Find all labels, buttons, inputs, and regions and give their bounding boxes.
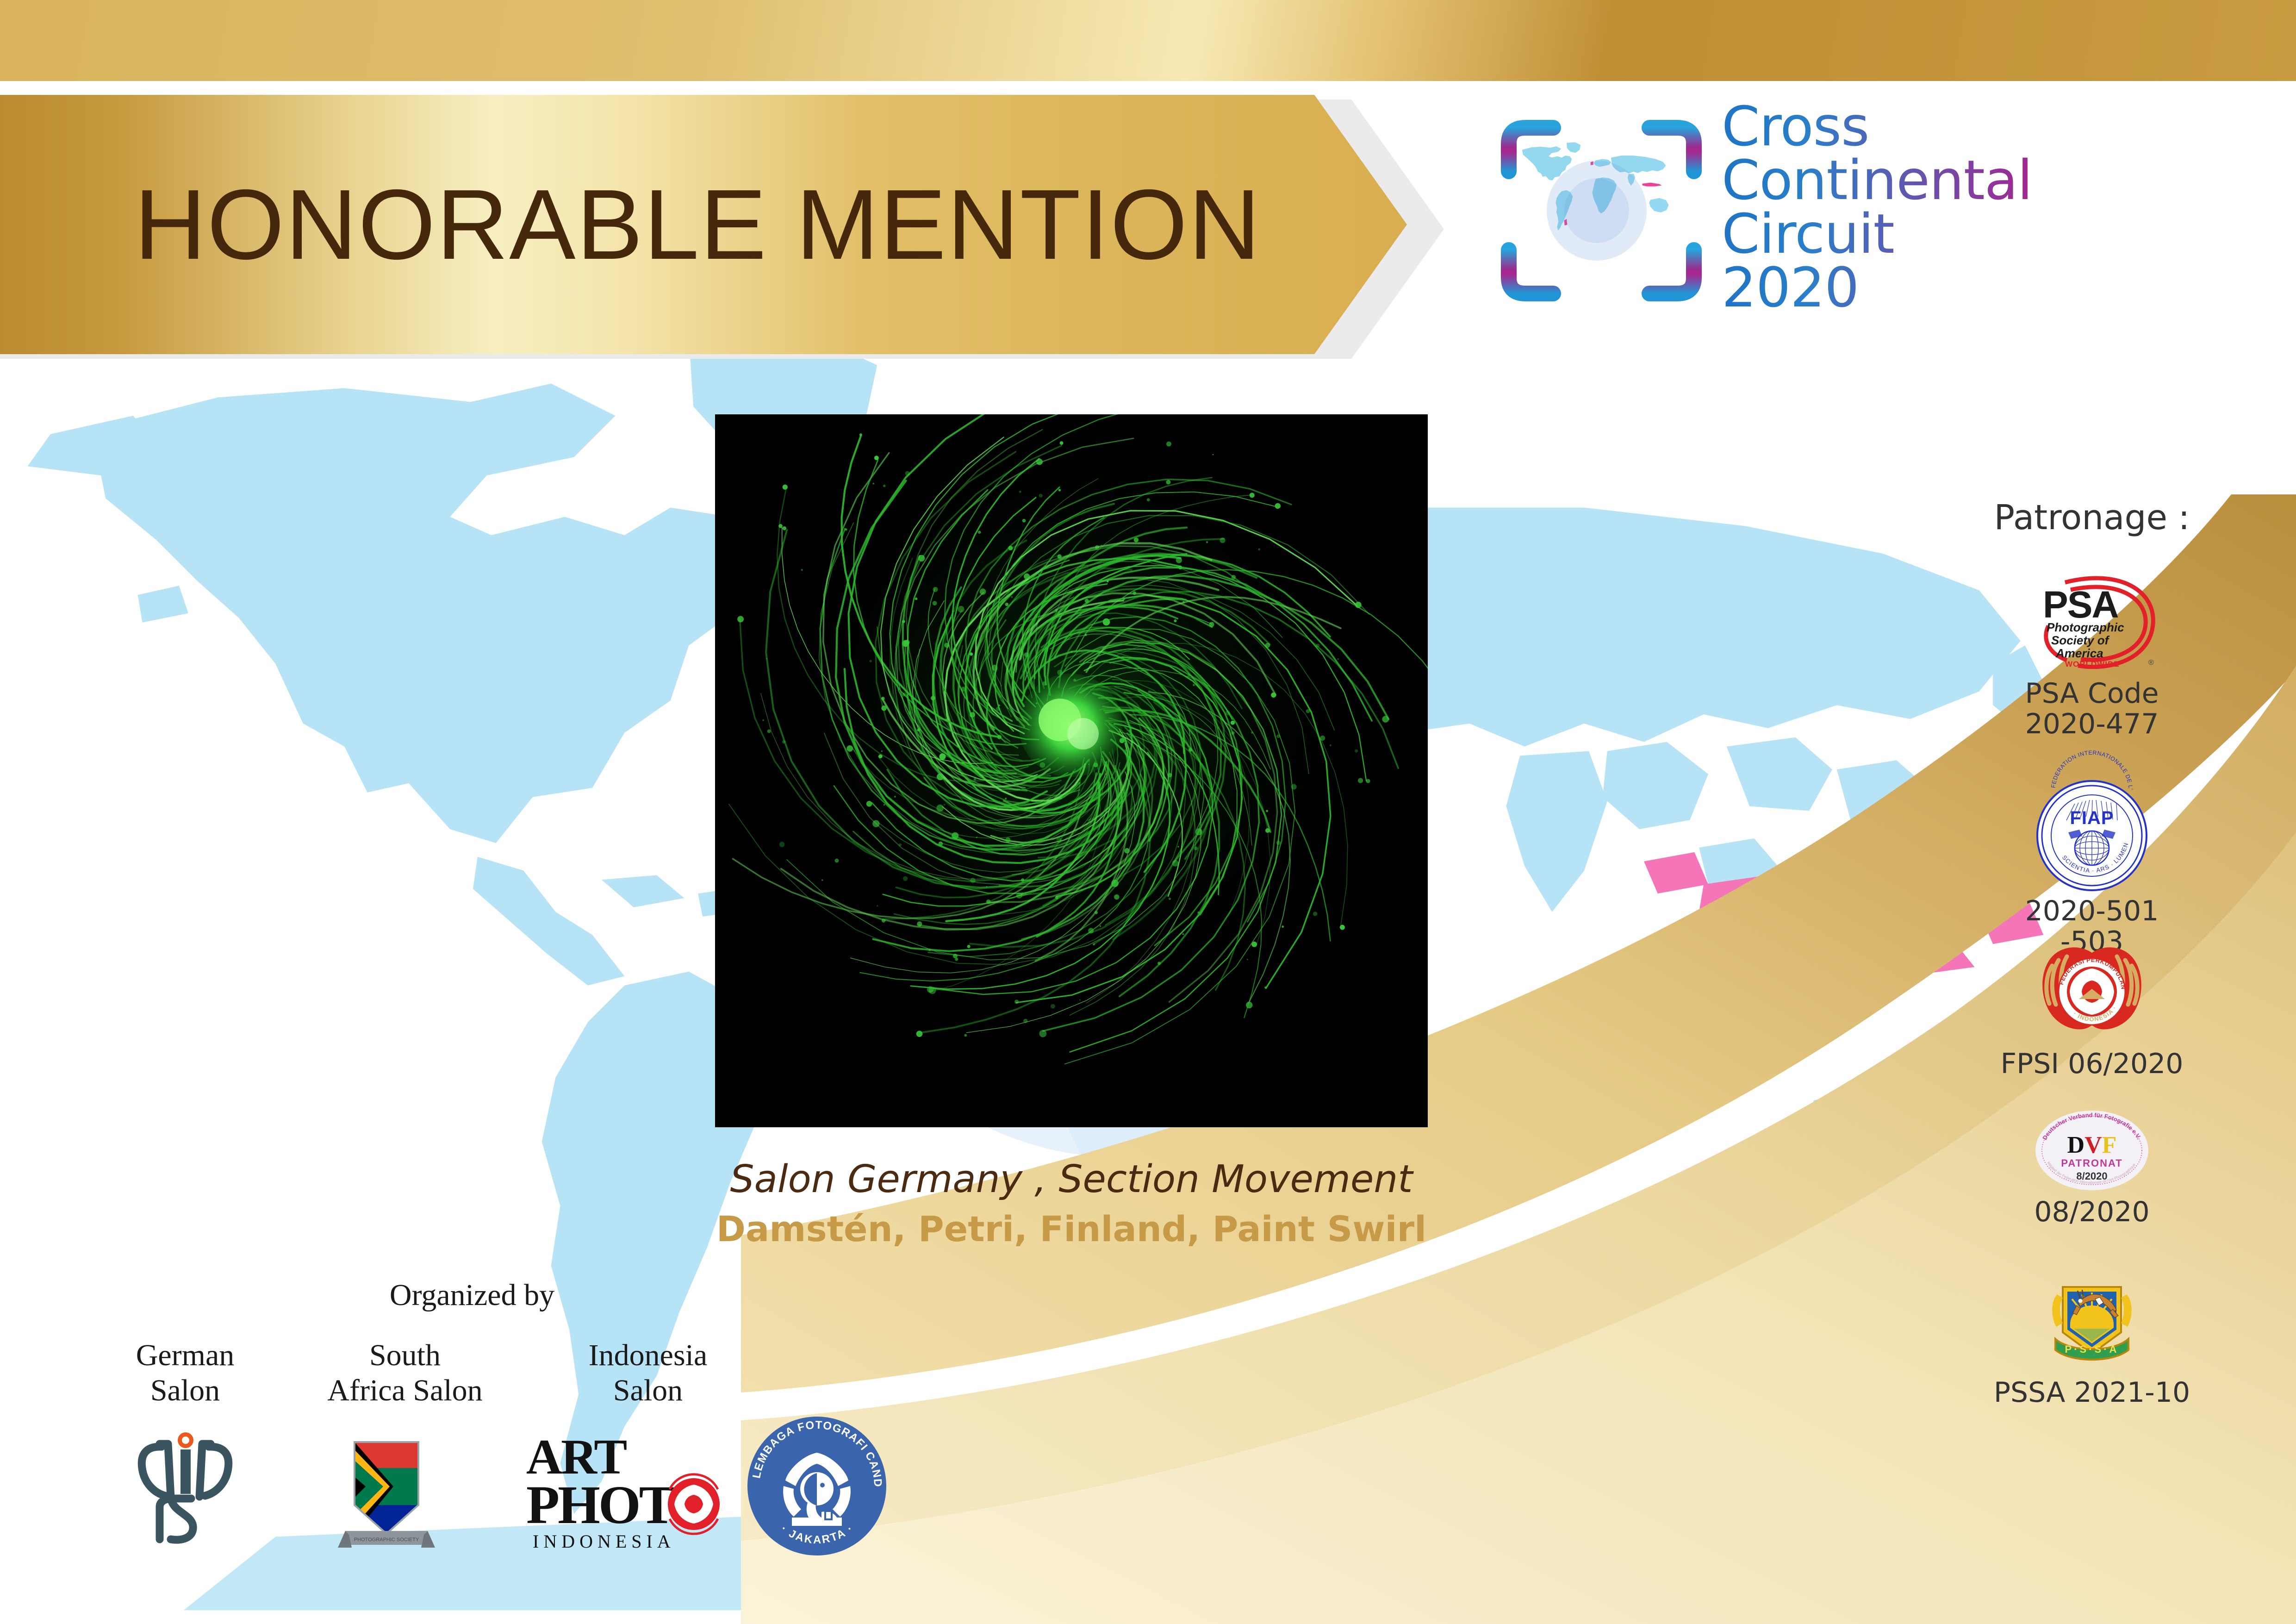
fiap-logo-icon: FEDERATION INTERNATIONALE DE L'ART PHOTO… (2034, 778, 2150, 893)
fpsi-code: FPSI 06/2020 (1944, 1049, 2240, 1079)
svg-text:®: ® (2148, 659, 2154, 667)
psa-code: PSA Code 2020-477 (1944, 678, 2240, 739)
svg-text:PSA: PSA (2043, 584, 2118, 626)
svg-text:PATRONAT: PATRONAT (2061, 1157, 2122, 1169)
author-title-caption: Damstén, Petri, Finland, Paint Swirl (574, 1208, 1569, 1249)
organizer-label-german-salon: German Salon (93, 1338, 278, 1408)
svg-text:PHOTOGRAPHIC SOCIETY: PHOTOGRAPHIC SOCIETY (354, 1537, 419, 1543)
pssa-code: PSSA 2021-10 (1944, 1377, 2240, 1408)
award-certificate: HONORABLE MENTION (0, 0, 2296, 1624)
dvf-code: 08/2020 (1944, 1197, 2240, 1227)
svg-text:INDONESIA: INDONESIA (533, 1531, 675, 1552)
logo-line-1: Cross (1722, 100, 2291, 153)
svg-text:WORLDWIDE: WORLDWIDE (2065, 660, 2120, 668)
patronage-item-fiap: FEDERATION INTERNATIONALE DE L'ART PHOTO… (1944, 778, 2240, 957)
organizer-label-indonesia-salon: Indonesia Salon (546, 1338, 750, 1408)
svg-text:P·S·S·A: P·S·S·A (2065, 1343, 2119, 1355)
svg-text:PHOT: PHOT (526, 1474, 675, 1535)
paint-swirl-artwork (715, 414, 1428, 1127)
logo-wordmark: Cross Continental Circuit 2020 (1722, 100, 2291, 314)
patronage-item-pssa: P·S·S·A PSSA 2021-10 (1944, 1255, 2240, 1408)
psa-logo-icon: PSA Photographic Society of America WORL… (2022, 569, 2161, 676)
salon-section-caption: Salon Germany , Section Movement (574, 1157, 1569, 1201)
svg-text:America: America (2055, 646, 2103, 660)
svg-text:FIAP: FIAP (2070, 808, 2114, 828)
fpsi-logo-icon: FEDERASI PERKUMPULAN SENI FOTO · INDONES… (2022, 940, 2161, 1046)
south-africa-flag-shield-logo-icon: PHOTOGRAPHIC SOCIETY (319, 1424, 454, 1558)
award-photograph (715, 414, 1428, 1127)
svg-text:8/2020: 8/2020 (2076, 1170, 2107, 1182)
art-photo-indonesia-logo-icon: ART PHOT INDONESIA (521, 1424, 724, 1558)
organized-by-heading: Organized by (296, 1278, 648, 1313)
patronage-item-psa: PSA Photographic Society of America WORL… (1944, 569, 2240, 739)
pssa-logo-icon: P·S·S·A (2034, 1255, 2150, 1375)
organizer-label-south-africa-salon: South Africa Salon (296, 1338, 514, 1408)
svg-text:Society of: Society of (2051, 633, 2110, 647)
top-gold-strip (0, 0, 2296, 81)
dvf-logo-icon: Deutscher Verband für Fotografie e.V. Mi… (2032, 1106, 2152, 1194)
logo-line-3: Circuit (1722, 207, 2291, 261)
cross-continental-circuit-logo: Cross Continental Circuit 2020 (1495, 111, 2291, 319)
trophy-aperture-logo-icon (132, 1428, 238, 1549)
camera-bracket-world-map-icon (1495, 111, 1708, 310)
patronage-item-fpsi: FEDERASI PERKUMPULAN SENI FOTO · INDONES… (1944, 940, 2240, 1079)
patronage-heading: Patronage : (1944, 498, 2240, 537)
logo-line-2: Continental (1722, 153, 2291, 207)
award-title: HONORABLE MENTION (134, 141, 1338, 308)
patronage-item-dvf: Deutscher Verband für Fotografie e.V. Mi… (1944, 1106, 2240, 1227)
svg-text:DVF: DVF (2067, 1132, 2117, 1158)
lembaga-fotografi-candra-naya-jakarta-logo-icon: LEMBAGA FOTOGRAFI CANDRA NAYA · JAKARTA … (743, 1412, 891, 1560)
svg-text:Photographic: Photographic (2047, 620, 2124, 634)
logo-line-4: 2020 (1722, 261, 2291, 314)
